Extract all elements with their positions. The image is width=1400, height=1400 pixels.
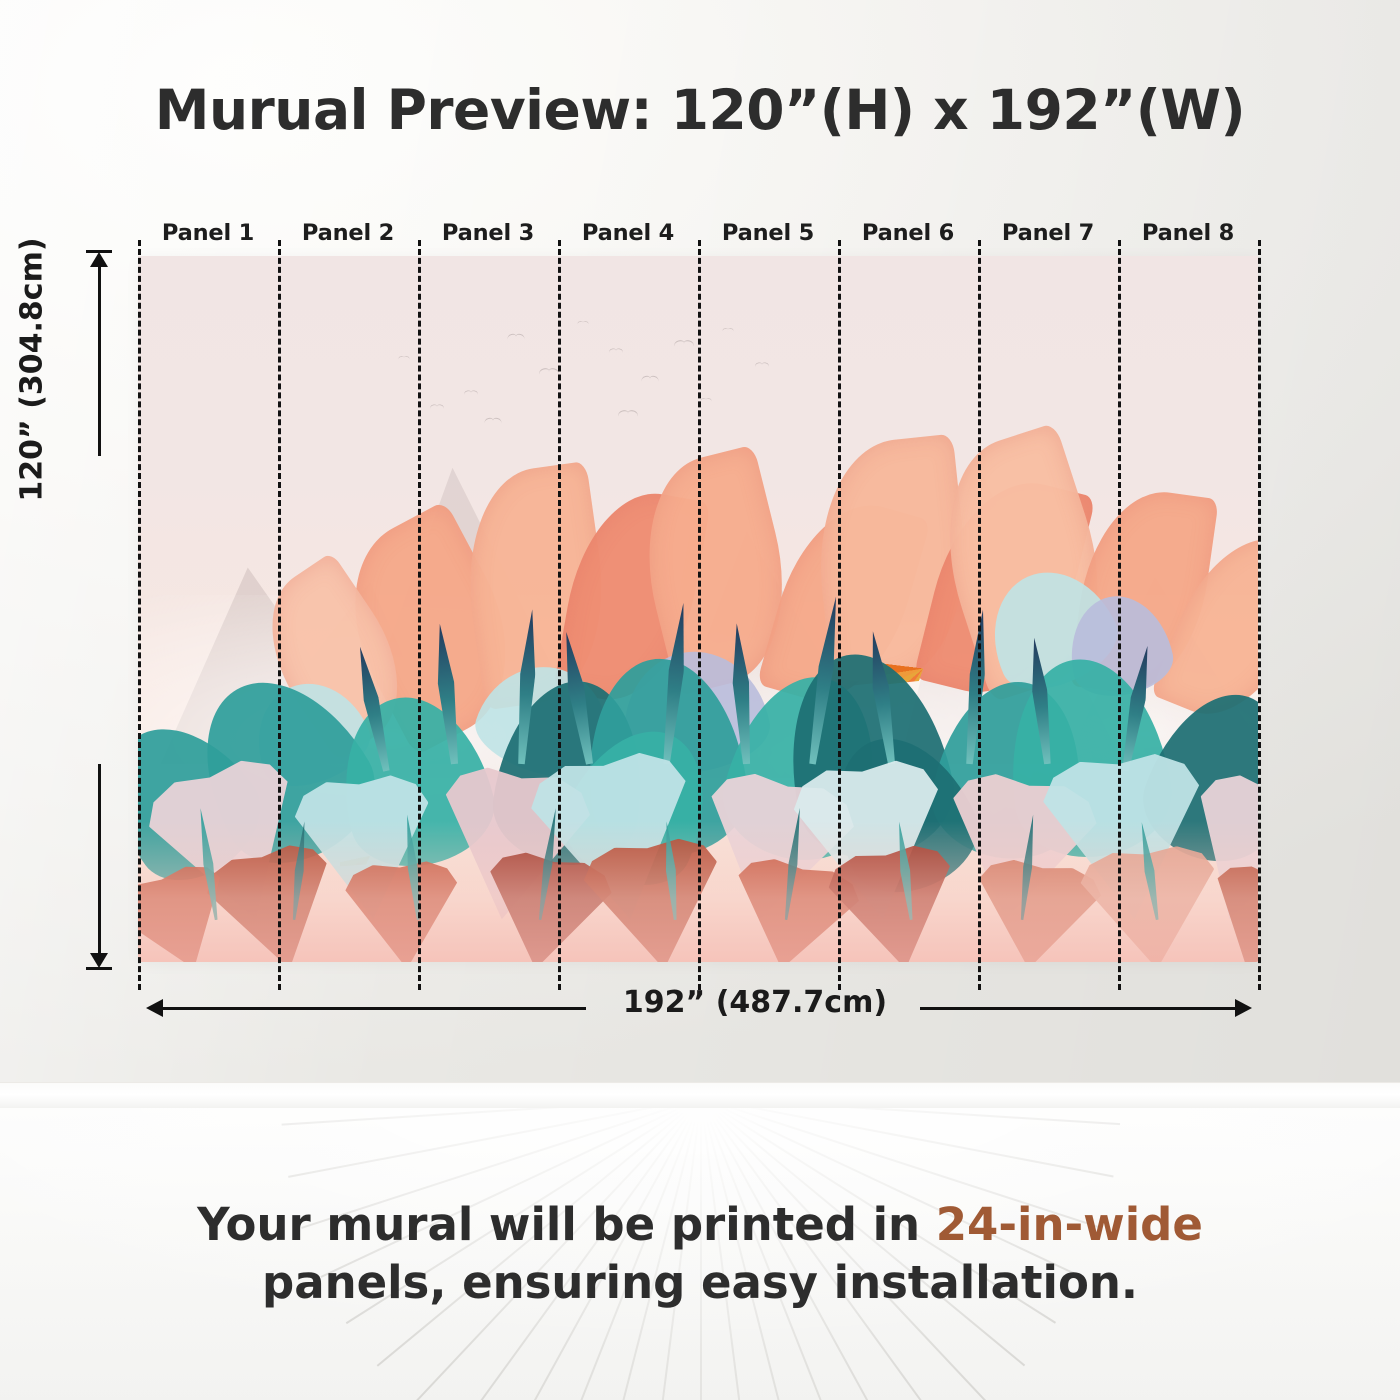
bird-icon — [539, 368, 559, 377]
height-shaft-lower — [98, 764, 101, 962]
bird-icon — [618, 410, 638, 419]
arrow-right-icon — [1235, 999, 1252, 1017]
ground-haze — [138, 821, 1258, 962]
panel-label-row: Panel 1 Panel 2 Panel 3 Panel 4 Panel 5 … — [138, 216, 1258, 250]
bird-icon — [642, 376, 659, 383]
caption-text-before: Your mural will be printed in — [197, 1198, 936, 1251]
height-dimension — [82, 250, 122, 970]
panel-label-1: Panel 1 — [138, 216, 278, 250]
bird-icon — [577, 321, 588, 326]
arrow-left-icon — [146, 999, 163, 1017]
footer-caption: Your mural will be printed in 24-in-wide… — [0, 1196, 1400, 1311]
caption-line-1: Your mural will be printed in 24-in-wide — [0, 1196, 1400, 1254]
caption-line-2: panels, ensuring easy installation. — [0, 1254, 1400, 1312]
panel-label-7: Panel 7 — [978, 216, 1118, 250]
panel-label-8: Panel 8 — [1118, 216, 1258, 250]
bird-icon — [430, 405, 444, 411]
caption-highlight: 24-in-wide — [936, 1198, 1203, 1251]
mural-preview-image — [138, 256, 1258, 962]
height-shaft-upper — [98, 258, 101, 456]
width-shaft-left — [162, 1007, 586, 1010]
bird-icon — [755, 362, 769, 368]
height-dimension-label: 120” (304.8cm) — [15, 210, 50, 530]
baseboard — [0, 1082, 1400, 1109]
mural-artwork — [138, 256, 1258, 962]
panel-label-2: Panel 2 — [278, 216, 418, 250]
panel-label-4: Panel 4 — [558, 216, 698, 250]
bird-icon — [674, 340, 694, 349]
bird-icon — [464, 391, 478, 397]
bird-icon — [507, 333, 524, 340]
width-dimension: 192” (487.7cm) — [140, 994, 1258, 1024]
arrow-down-icon — [90, 953, 108, 968]
width-dimension-label: 192” (487.7cm) — [590, 985, 920, 1020]
bird-icon — [398, 356, 409, 361]
page-title: Murual Preview: 120”(H) x 192”(W) — [0, 78, 1400, 142]
width-shaft-right — [920, 1007, 1236, 1010]
panel-label-3: Panel 3 — [418, 216, 558, 250]
bird-icon — [485, 418, 502, 425]
mural-preview-page: Murual Preview: 120”(H) x 192”(W) Panel … — [0, 0, 1400, 1400]
panel-label-6: Panel 6 — [838, 216, 978, 250]
bird-icon — [700, 398, 711, 403]
panel-label-5: Panel 5 — [698, 216, 838, 250]
bird-icon — [609, 348, 623, 354]
bird-icon — [723, 328, 734, 333]
